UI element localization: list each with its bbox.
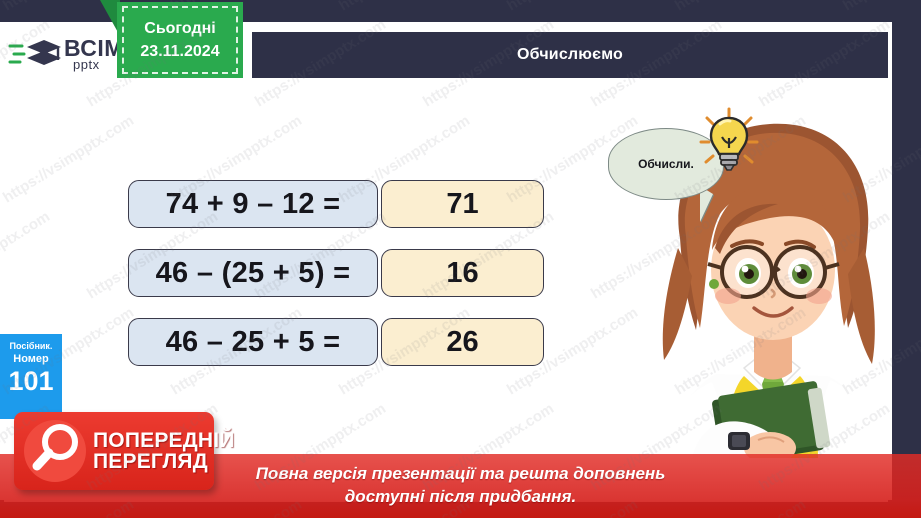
answer-box[interactable]: 16 — [381, 249, 544, 297]
presentation-slide: Обчисли. Обчислюємо — [0, 0, 921, 518]
answer-box[interactable]: 71 — [381, 180, 544, 228]
badge-number: 101 — [0, 367, 62, 397]
badge-line-2: Номер — [0, 352, 62, 366]
watermark-text: https://vsimpptx.com — [672, 0, 809, 14]
banner-line-1: Повна версія презентації та решта доповн… — [256, 463, 666, 486]
graduation-cap-icon — [8, 34, 62, 74]
equation-row: 46 – (25 + 5) = 16 — [128, 249, 544, 297]
equation-row: 46 – 25 + 5 = 26 — [128, 318, 544, 366]
lightbulb-icon — [698, 104, 760, 183]
exercise-number-badge: Посібник. Номер 101 — [0, 334, 62, 419]
expression-box: 74 + 9 – 12 = — [128, 180, 378, 228]
page-title: Обчислюємо — [517, 46, 623, 64]
banner-line-2: доступні після придбання. — [345, 486, 576, 509]
preview-badge[interactable]: ПОПЕРЕДНІЙ ПЕРЕГЛЯД — [14, 412, 214, 490]
watermark-text: https://vsimpptx.com — [840, 0, 921, 14]
magnifier-icon — [24, 420, 86, 482]
watermark-text: https://vsimpptx.com — [336, 0, 473, 14]
equations-list: 74 + 9 – 12 = 71 46 – (25 + 5) = 16 46 –… — [128, 180, 544, 387]
slide-header: Обчислюємо — [252, 32, 888, 78]
preview-badge-line-2: ПЕРЕГЛЯД — [93, 451, 235, 472]
preview-badge-line-1: ПОПЕРЕДНІЙ — [93, 430, 235, 451]
brand-logo[interactable]: ВСІМ pptx — [8, 30, 130, 78]
date-badge-value: 23.11.2024 — [140, 40, 219, 63]
badge-line-1: Посібник. — [0, 340, 62, 352]
date-badge-label: Сьогодні — [144, 17, 215, 40]
date-badge: Сьогодні 23.11.2024 — [117, 2, 243, 78]
equation-row: 74 + 9 – 12 = 71 — [128, 180, 544, 228]
expression-box: 46 – (25 + 5) = — [128, 249, 378, 297]
speech-bubble-text: Обчисли. — [638, 157, 694, 171]
expression-box: 46 – 25 + 5 = — [128, 318, 378, 366]
watermark-text: https://vsimpptx.com — [504, 0, 641, 14]
answer-box[interactable]: 26 — [381, 318, 544, 366]
